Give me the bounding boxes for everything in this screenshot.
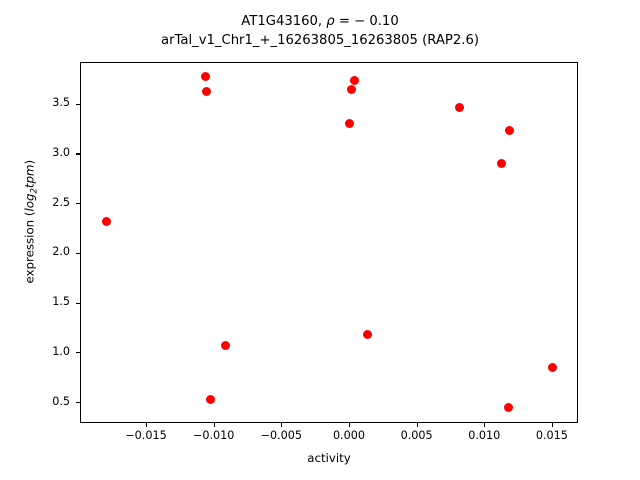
data-point — [504, 403, 513, 412]
title-line-1: AT1G43160, ρ = − 0.10 — [0, 12, 640, 31]
y-axis-tick — [76, 402, 80, 403]
y-axis-tick — [76, 303, 80, 304]
x-axis-tick — [484, 423, 485, 427]
y-axis-log-base: log — [22, 194, 36, 212]
data-point — [345, 119, 354, 128]
data-point — [206, 395, 215, 404]
rho-symbol: ρ — [326, 14, 334, 29]
x-axis-tick-label: −0.015 — [111, 429, 181, 442]
data-point — [497, 159, 506, 168]
x-axis-tick — [349, 423, 350, 427]
data-point — [505, 126, 514, 135]
y-axis-tick-label: 0.5 — [0, 395, 70, 408]
x-axis-tick — [146, 423, 147, 427]
x-axis-tick-label: −0.005 — [246, 429, 316, 442]
x-axis-tick — [281, 423, 282, 427]
title-line-2: arTal_v1_Chr1_+_16263805_16263805 (RAP2.… — [0, 31, 640, 50]
y-axis-label-prefix: expression ( — [22, 211, 36, 283]
x-axis-tick — [214, 423, 215, 427]
y-axis-tick — [76, 203, 80, 204]
x-axis-tick-label: −0.010 — [179, 429, 249, 442]
data-point — [350, 76, 359, 85]
y-axis-label: expression (log2tpm) — [22, 52, 39, 392]
y-axis-label-suffix: ) — [22, 160, 36, 165]
y-axis-log-subscript: 2 — [30, 188, 40, 193]
data-point — [202, 87, 211, 96]
data-point — [347, 85, 356, 94]
y-axis-tick — [76, 253, 80, 254]
x-axis-tick — [417, 423, 418, 427]
data-point — [102, 217, 111, 226]
x-axis-tick-label: 0.005 — [382, 429, 452, 442]
x-axis-tick-label: 0.015 — [517, 429, 587, 442]
data-point — [455, 103, 464, 112]
plot-title: AT1G43160, ρ = − 0.10 arTal_v1_Chr1_+_16… — [0, 12, 640, 50]
x-axis-label: activity — [80, 451, 578, 465]
rho-equals: = — [335, 14, 354, 29]
rho-value: − 0.10 — [354, 14, 399, 29]
y-axis-label-math: log2tpm — [22, 164, 36, 211]
x-axis-tick — [552, 423, 553, 427]
data-point — [363, 330, 372, 339]
scatter-plot-figure: AT1G43160, ρ = − 0.10 arTal_v1_Chr1_+_16… — [0, 0, 640, 480]
x-axis-tick-label: 0.010 — [449, 429, 519, 442]
y-axis-tick — [76, 352, 80, 353]
y-axis-tick — [76, 153, 80, 154]
data-point — [201, 72, 210, 81]
title-gene-id: AT1G43160 — [241, 14, 318, 29]
y-axis-tick — [76, 104, 80, 105]
data-point — [221, 341, 230, 350]
data-point — [548, 363, 557, 372]
x-axis-tick-label: 0.000 — [314, 429, 384, 442]
plot-axes-frame — [80, 62, 578, 423]
plot-data-area — [81, 63, 577, 422]
y-axis-unit: tpm — [22, 164, 36, 188]
